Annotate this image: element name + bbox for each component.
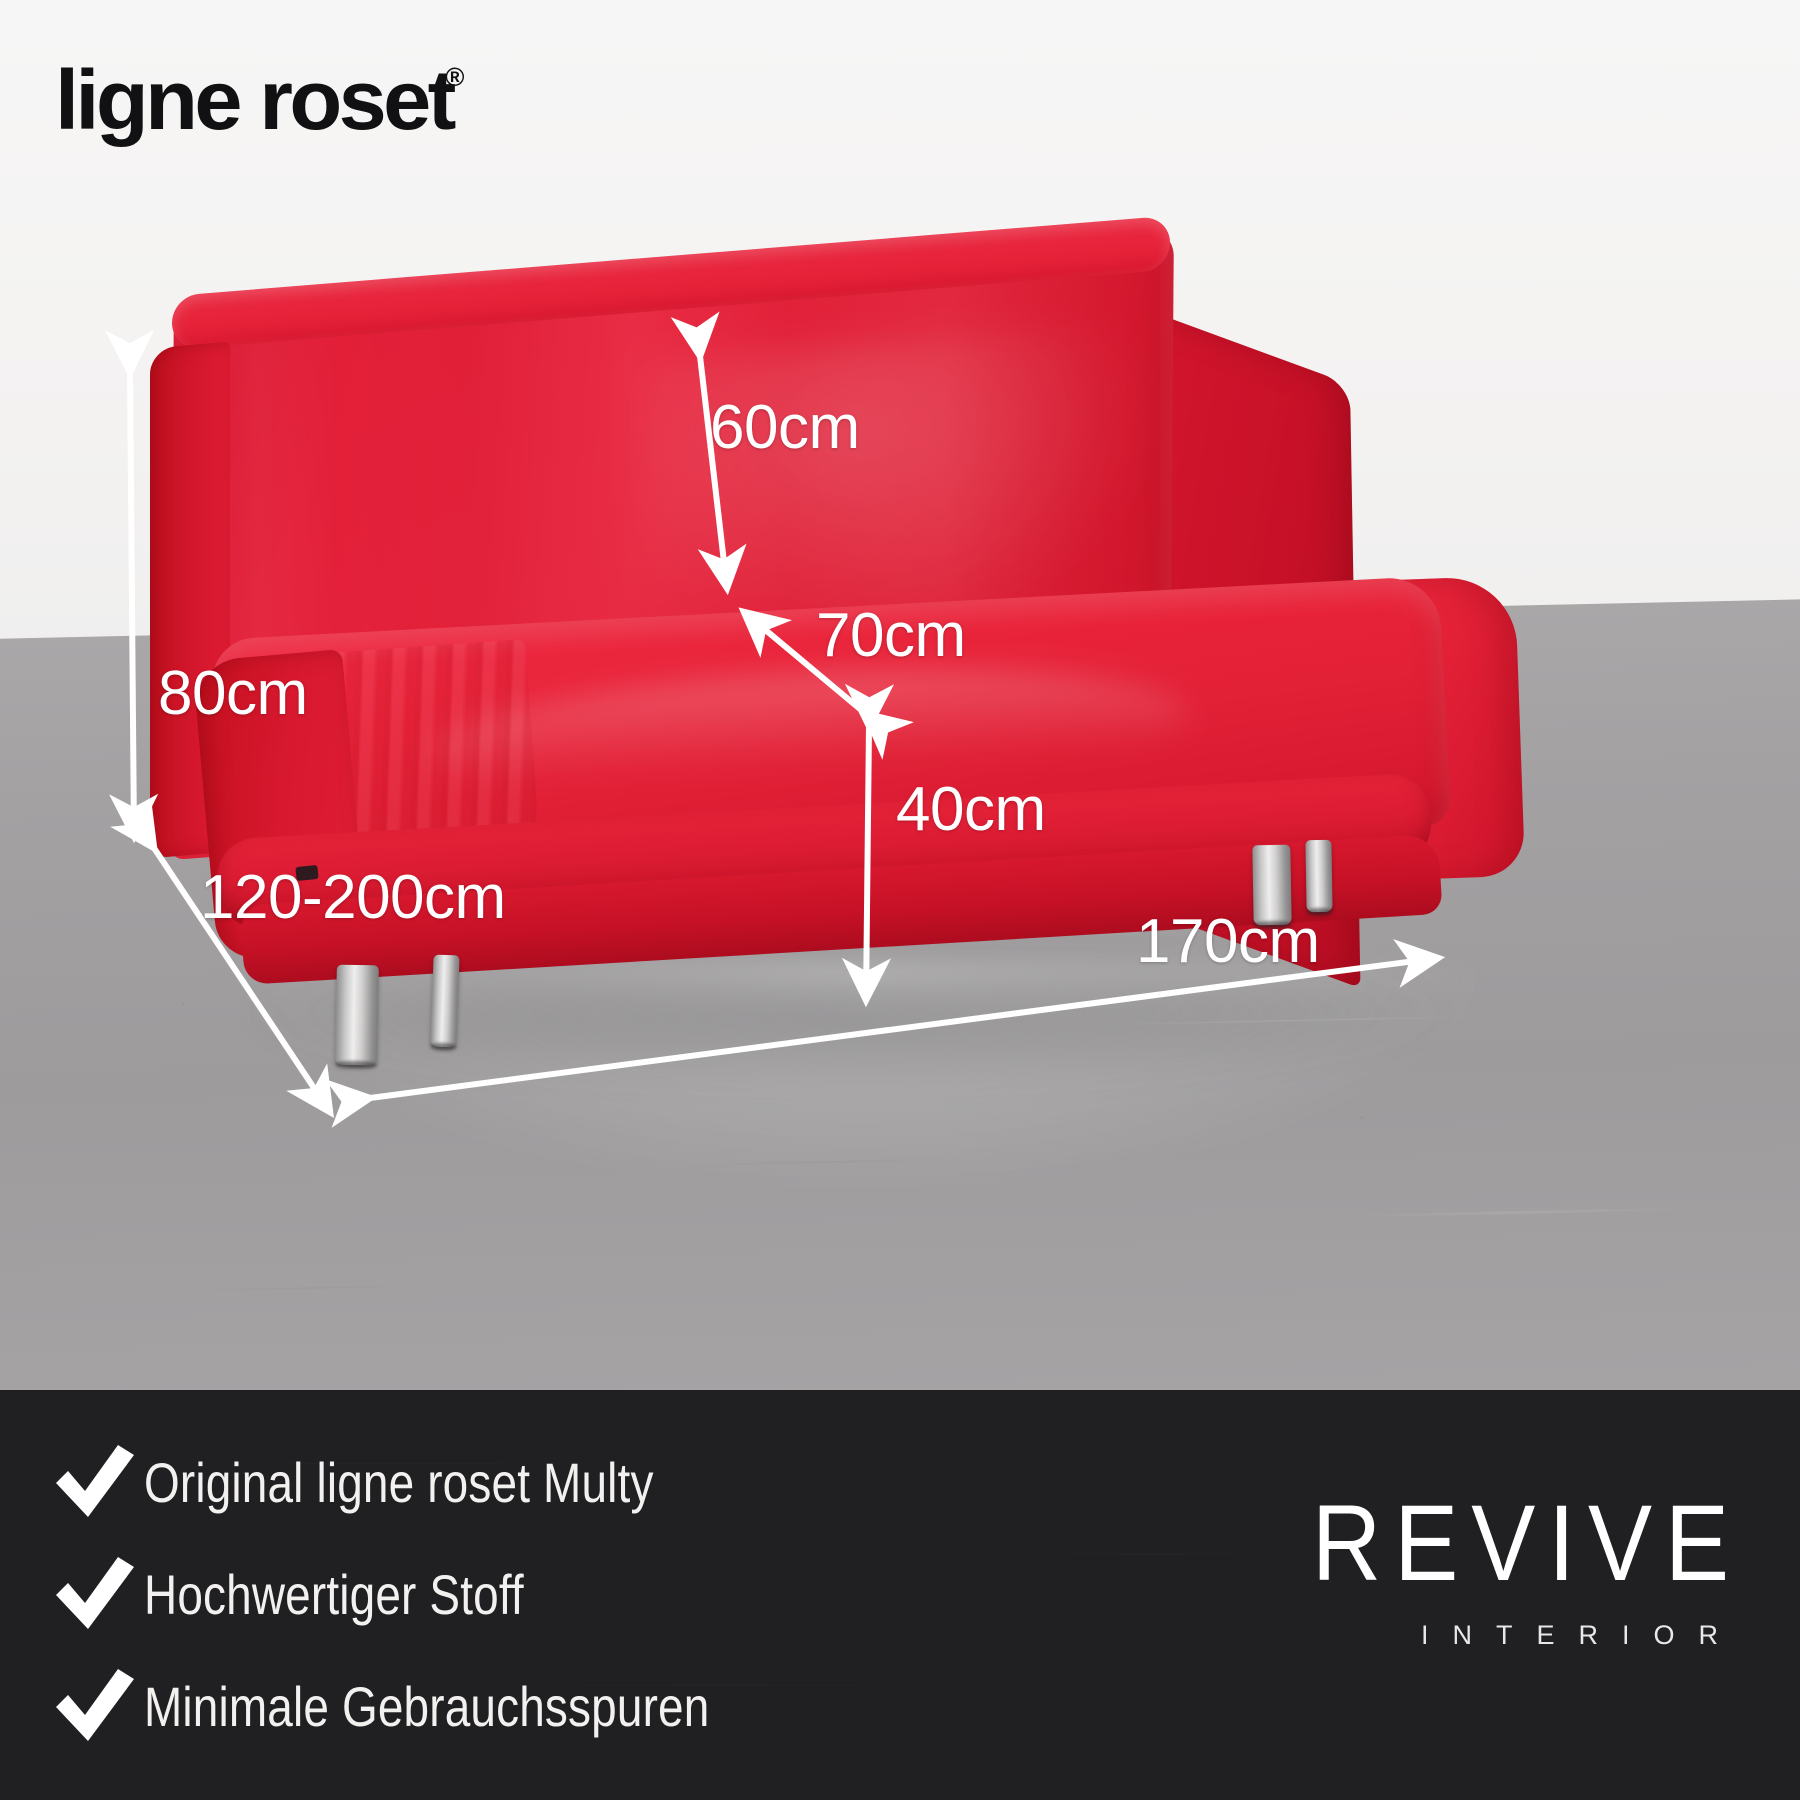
product-image-card: 60cm 70cm 40cm 80cm 120-200cm 170cm lign…: [0, 0, 1800, 1800]
sofa-leg-rear-left: [430, 955, 459, 1048]
check-icon: [52, 1443, 144, 1521]
list-item: Minimale Gebrauchsspuren: [52, 1650, 1052, 1762]
product-photo: 60cm 70cm 40cm 80cm 120-200cm 170cm lign…: [0, 0, 1800, 1390]
seller-tagline: INTERIOR: [1312, 1620, 1744, 1651]
seller-logo: REVIVE INTERIOR: [1312, 1502, 1744, 1651]
list-item: Hochwertiger Stoff: [52, 1538, 1052, 1650]
sofa-leg-front-left: [335, 965, 379, 1066]
feature-list: Original ligne roset Multy Hochwertiger …: [52, 1426, 1052, 1762]
sofa-leg-rear-right: [1305, 840, 1332, 912]
seller-name: REVIVE: [1312, 1490, 1744, 1598]
list-item: Original ligne roset Multy: [52, 1426, 1052, 1538]
check-icon: [52, 1667, 144, 1745]
feature-text: Original ligne roset Multy: [144, 1450, 654, 1515]
sofa-leg-front-right: [1252, 845, 1291, 926]
brand-logo-text: ligne roset: [55, 58, 453, 142]
feature-banner: Original ligne roset Multy Hochwertiger …: [0, 1390, 1800, 1800]
sofa-release-strap: [295, 865, 318, 881]
feature-text: Minimale Gebrauchsspuren: [144, 1674, 709, 1739]
sofa: [0, 0, 1800, 1390]
brand-logo: ligne roset ®: [55, 58, 464, 142]
feature-text: Hochwertiger Stoff: [144, 1562, 524, 1627]
check-icon: [52, 1555, 144, 1633]
